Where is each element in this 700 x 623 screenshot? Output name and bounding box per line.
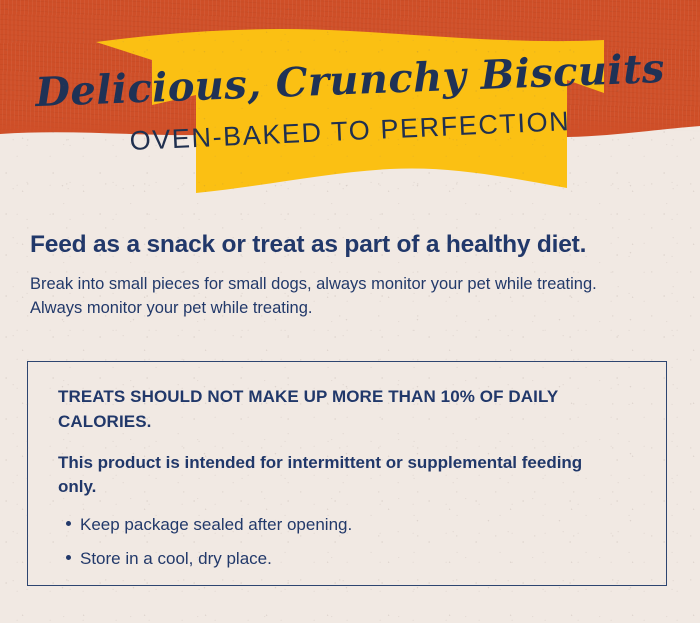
storage-instructions-list: Keep package sealed after opening. Store… bbox=[58, 514, 640, 570]
feeding-heading: Feed as a snack or treat as part of a he… bbox=[30, 231, 670, 259]
list-item-label: Keep package sealed after opening. bbox=[80, 515, 352, 534]
calorie-notice-inner: Treats should not make up more than 10% … bbox=[28, 362, 666, 570]
feeding-body-text: Break into small pieces for small dogs, … bbox=[30, 273, 630, 320]
calorie-notice-box: Treats should not make up more than 10% … bbox=[27, 361, 667, 586]
dog-treat-packaging-panel: Delicious, Crunchy Biscuits OVEN-BAKED T… bbox=[0, 0, 700, 623]
yellow-ribbon-banner: Delicious, Crunchy Biscuits OVEN-BAKED T… bbox=[0, 0, 700, 215]
list-item: Keep package sealed after opening. bbox=[58, 514, 640, 536]
feeding-copy-block: Feed as a snack or treat as part of a he… bbox=[30, 231, 670, 320]
bullet-dot-icon bbox=[66, 555, 71, 560]
list-item: Store in a cool, dry place. bbox=[58, 548, 640, 570]
bullet-dot-icon bbox=[66, 521, 71, 526]
calorie-warning-heading: Treats should not make up more than 10% … bbox=[58, 385, 598, 434]
list-item-label: Store in a cool, dry place. bbox=[80, 549, 272, 568]
supplemental-feeding-note: This product is intended for intermitten… bbox=[58, 451, 618, 498]
